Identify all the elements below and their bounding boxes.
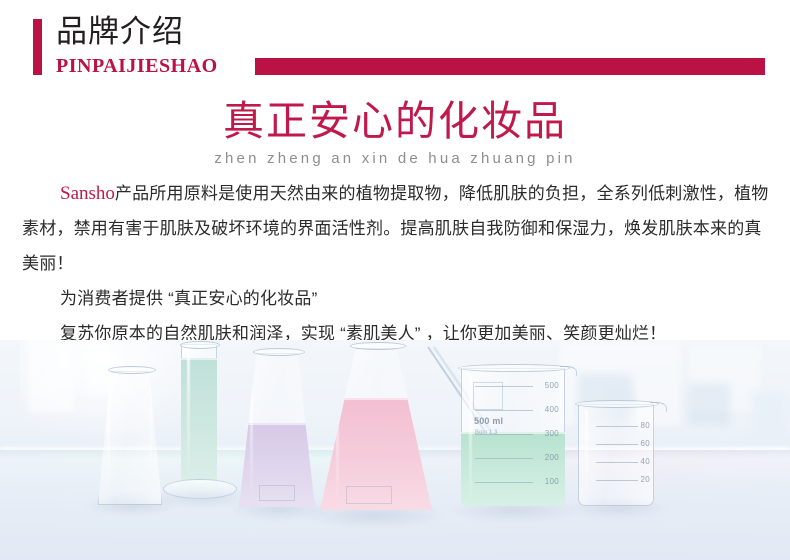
glass-highlight xyxy=(585,410,588,500)
window-pane xyxy=(86,340,112,394)
cylinder-base xyxy=(163,479,237,499)
glass-highlight xyxy=(187,348,190,472)
beaker-rim xyxy=(458,364,570,372)
glass-highlight xyxy=(469,374,472,500)
section-title-cn: 品牌介绍 xyxy=(56,13,184,51)
beaker-spout xyxy=(650,402,667,412)
window-pane xyxy=(28,340,74,412)
flask-label-area xyxy=(259,485,295,501)
graduated-cylinder-teal xyxy=(181,344,217,490)
beaker-small-empty: 80 60 40 20 xyxy=(578,404,654,506)
brand-introduction-banner: 品牌介绍 PINPAIJIESHAO 真正安心的化妆品 zhen zheng a… xyxy=(0,0,790,560)
background-object xyxy=(688,384,730,426)
liquid-surface xyxy=(461,432,565,434)
beaker-body xyxy=(578,404,654,506)
flask-rim xyxy=(350,342,406,350)
body-copy: Sansho产品所用原料是使用天然由来的植物提取物，降低肌肤的负担，全系列低刺激… xyxy=(22,176,774,351)
background-object xyxy=(752,392,786,454)
hero-block: 真正安心的化妆品 zhen zheng an xin de hua zhuang… xyxy=(0,95,790,169)
cylinder-rim xyxy=(180,341,220,349)
beaker-large-green: 500 ml Bom 1.3 500 400 300 200 100 xyxy=(461,368,565,506)
beaker-liquid xyxy=(461,432,565,506)
section-title-en: PINPAIJIESHAO xyxy=(56,54,218,78)
section-header: 品牌介绍 PINPAIJIESHAO xyxy=(0,0,790,95)
hero-title: 真正安心的化妆品 xyxy=(0,95,790,147)
header-divider-bar xyxy=(255,58,765,75)
paragraph-1-text: 产品所用原料是使用天然由来的植物提取物，降低肌肤的负担，全系列低刺激性，植物素材… xyxy=(22,184,769,273)
beaker-rim xyxy=(575,400,659,408)
beaker-spout xyxy=(560,366,577,376)
flask-rim xyxy=(108,366,156,374)
accent-bar-icon xyxy=(33,19,42,75)
hero-pinyin: zhen zheng an xin de hua zhuang pin xyxy=(0,147,790,169)
flask-rim xyxy=(253,348,305,356)
glassware-photo: 500 ml Bom 1.3 500 400 300 200 100 xyxy=(0,340,790,560)
brand-name: Sansho xyxy=(60,183,115,204)
flask-label-area xyxy=(346,486,392,504)
paragraph-1: Sansho产品所用原料是使用天然由来的植物提取物，降低肌肤的负担，全系列低刺激… xyxy=(22,176,774,281)
paragraph-2: 为消费者提供 “真正安心的化妆品” xyxy=(22,281,774,316)
